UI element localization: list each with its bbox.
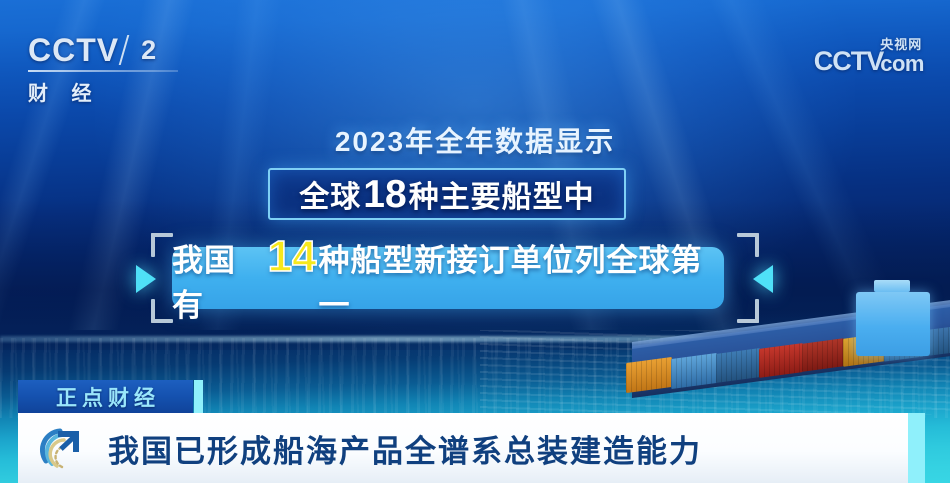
stat-box-china-ship-types: 我国有 14 种船型新接订单位列全球第一	[172, 247, 724, 309]
stat-suffix: 种船型新接订单位列全球第一	[319, 235, 724, 325]
channel-name-cn: 财 经	[28, 77, 208, 106]
cctv-com-domain: com	[880, 53, 924, 75]
logo-slash-divider	[119, 35, 130, 65]
cctv-com-cn-label: 央视网	[880, 38, 922, 52]
triangle-left-icon	[753, 265, 773, 293]
cargo-container	[759, 343, 803, 378]
news-banner-title: 我国已形成船海产品全谱系总装建造能力	[108, 426, 702, 471]
cctv-finance-swirl-icon	[36, 421, 90, 475]
ship-bridge	[874, 280, 910, 292]
news-banner: 我国已形成船海产品全谱系总装建造能力	[18, 413, 925, 483]
stat-prefix: 全球	[299, 172, 361, 216]
cctv-com-logo: CCTV 央视网 com	[814, 38, 924, 75]
stat-suffix: 种主要船型中	[409, 172, 595, 216]
program-tab: 正点财经	[18, 380, 193, 413]
cargo-container	[626, 357, 672, 393]
stat-number-14: 14	[268, 232, 317, 282]
stat-number-18: 18	[363, 173, 406, 217]
cargo-container	[802, 338, 844, 372]
triangle-right-icon	[136, 265, 156, 293]
kicker-text: 2023年全年数据显示	[0, 120, 950, 160]
logo-underline	[28, 70, 178, 72]
channel-number: 2	[132, 33, 166, 67]
cargo-container	[716, 348, 760, 383]
program-tab-accent	[194, 380, 203, 413]
ship-superstructure	[856, 292, 930, 356]
cargo-container	[671, 353, 717, 389]
cctv2-logo: CCTV 2 财 经	[28, 33, 208, 95]
program-tab-label: 正点财经	[51, 382, 160, 412]
news-banner-accent	[908, 413, 925, 483]
cctv-wordmark: CCTV	[28, 34, 119, 66]
broadcast-screenshot: CCTV 2 财 经 CCTV 央视网 com 2023年全年数据显示 全球 1…	[0, 0, 950, 483]
stat-prefix: 我国有	[172, 235, 266, 325]
cctv-com-wordmark: CCTV	[814, 48, 884, 75]
stat-box-global-ship-types: 全球 18 种主要船型中	[268, 168, 626, 220]
